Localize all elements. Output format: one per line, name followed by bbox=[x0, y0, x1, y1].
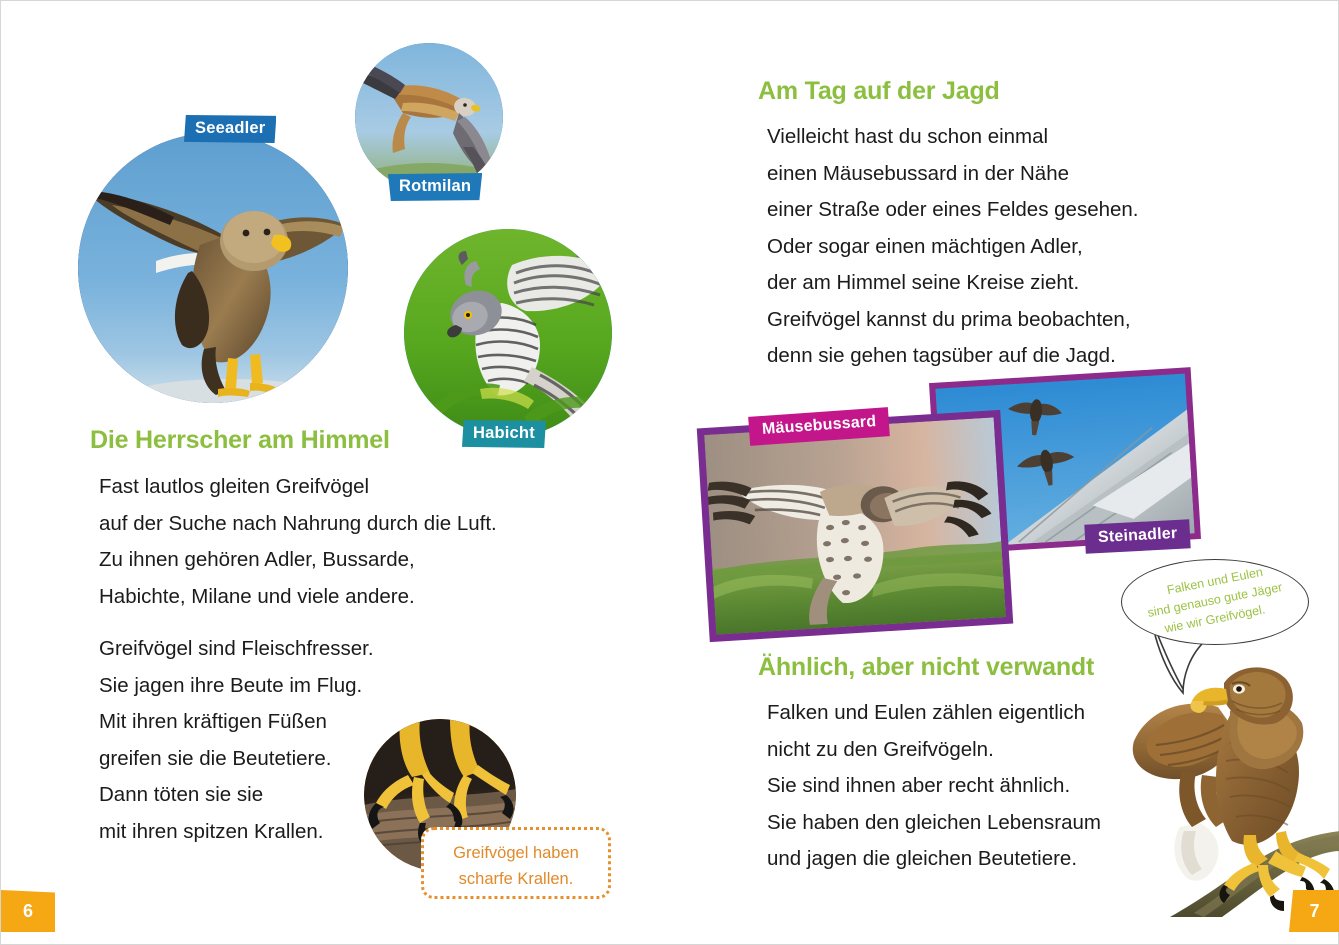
text-line: der am Himmel seine Kreise zieht. bbox=[767, 265, 1139, 302]
text-line: Greifvögel sind Fleischfresser. bbox=[99, 631, 374, 668]
page-number-right-text: 7 bbox=[1309, 901, 1319, 922]
text-line: Falken und Eulen zählen eigentlich bbox=[767, 695, 1101, 732]
text-line: greifen sie die Beutetiere. bbox=[99, 741, 374, 778]
right-paragraph-1: Vielleicht hast du schon einmal einen Mä… bbox=[767, 119, 1139, 375]
habicht-photo bbox=[404, 229, 612, 437]
text-line: auf der Suche nach Nahrung durch die Luf… bbox=[99, 506, 497, 543]
text-line: mit ihren spitzen Krallen. bbox=[99, 814, 374, 851]
text-line: Vielleicht hast du schon einmal bbox=[767, 119, 1139, 156]
seeadler-label-text: Seeadler bbox=[195, 119, 265, 137]
text-line: und jagen die gleichen Beutetiere. bbox=[767, 841, 1101, 878]
krallen-callout: Greifvögel haben scharfe Krallen. bbox=[421, 827, 611, 899]
left-paragraph-2: Greifvögel sind Fleischfresser. Sie jage… bbox=[99, 631, 374, 850]
text-line: denn sie gehen tagsüber auf die Jagd. bbox=[767, 338, 1139, 375]
rotmilan-photo bbox=[355, 43, 503, 191]
speech-bubble: Falken und Eulen sind genauso gute Jäger… bbox=[1121, 559, 1309, 645]
seeadler-image bbox=[78, 133, 348, 403]
text-line: Oder sogar einen mächtigen Adler, bbox=[767, 229, 1139, 266]
text-line: einer Straße oder eines Feldes gesehen. bbox=[767, 192, 1139, 229]
text-line: Greifvögel kannst du prima beobachten, bbox=[767, 302, 1139, 339]
habicht-image bbox=[404, 229, 612, 437]
page-number-left-text: 6 bbox=[23, 901, 33, 922]
text-line: Mit ihren kräftigen Füßen bbox=[99, 704, 374, 741]
habicht-label: Habicht bbox=[462, 420, 546, 448]
text-line: einen Mäusebussard in der Nähe bbox=[767, 156, 1139, 193]
right-heading-jagd: Am Tag auf der Jagd bbox=[758, 77, 1000, 106]
callout-line-2: scharfe Krallen. bbox=[424, 866, 608, 892]
text-line: Sie haben den gleichen Lebensraum bbox=[767, 805, 1101, 842]
rotmilan-image bbox=[355, 43, 503, 191]
page-number-left: 6 bbox=[1, 890, 55, 932]
book-spread: Seeadler bbox=[0, 0, 1339, 945]
left-heading-herrscher: Die Herrscher am Himmel bbox=[90, 426, 390, 455]
maeusebussard-label-text: Mäusebussard bbox=[761, 413, 876, 438]
right-paragraph-2: Falken und Eulen zählen eigentlich nicht… bbox=[767, 695, 1101, 878]
rotmilan-label-text: Rotmilan bbox=[399, 177, 471, 195]
page-number-right: 7 bbox=[1289, 890, 1339, 932]
text-line: Fast lautlos gleiten Greifvögel bbox=[99, 469, 497, 506]
text-line: Sie jagen ihre Beute im Flug. bbox=[99, 668, 374, 705]
right-heading-aehnlich: Ähnlich, aber nicht verwandt bbox=[758, 653, 1094, 682]
left-paragraph-1: Fast lautlos gleiten Greifvögel auf der … bbox=[99, 469, 497, 615]
text-line: nicht zu den Greifvögeln. bbox=[767, 732, 1101, 769]
steinadler-label-text: Steinadler bbox=[1098, 525, 1178, 546]
seeadler-label: Seeadler bbox=[184, 115, 276, 143]
text-line: Habichte, Milane und viele andere. bbox=[99, 579, 497, 616]
text-line: Dann töten sie sie bbox=[99, 777, 374, 814]
callout-line-1: Greifvögel haben bbox=[424, 840, 608, 866]
maeusebussard-photo bbox=[697, 410, 1013, 642]
rotmilan-label: Rotmilan bbox=[388, 173, 482, 201]
text-line: Sie sind ihnen aber recht ähnlich. bbox=[767, 768, 1101, 805]
text-line: Zu ihnen gehören Adler, Bussarde, bbox=[99, 542, 497, 579]
steinadler-label: Steinadler bbox=[1084, 519, 1191, 553]
habicht-label-text: Habicht bbox=[473, 424, 535, 442]
maeusebussard-image bbox=[704, 417, 1006, 634]
seeadler-photo bbox=[78, 133, 348, 403]
